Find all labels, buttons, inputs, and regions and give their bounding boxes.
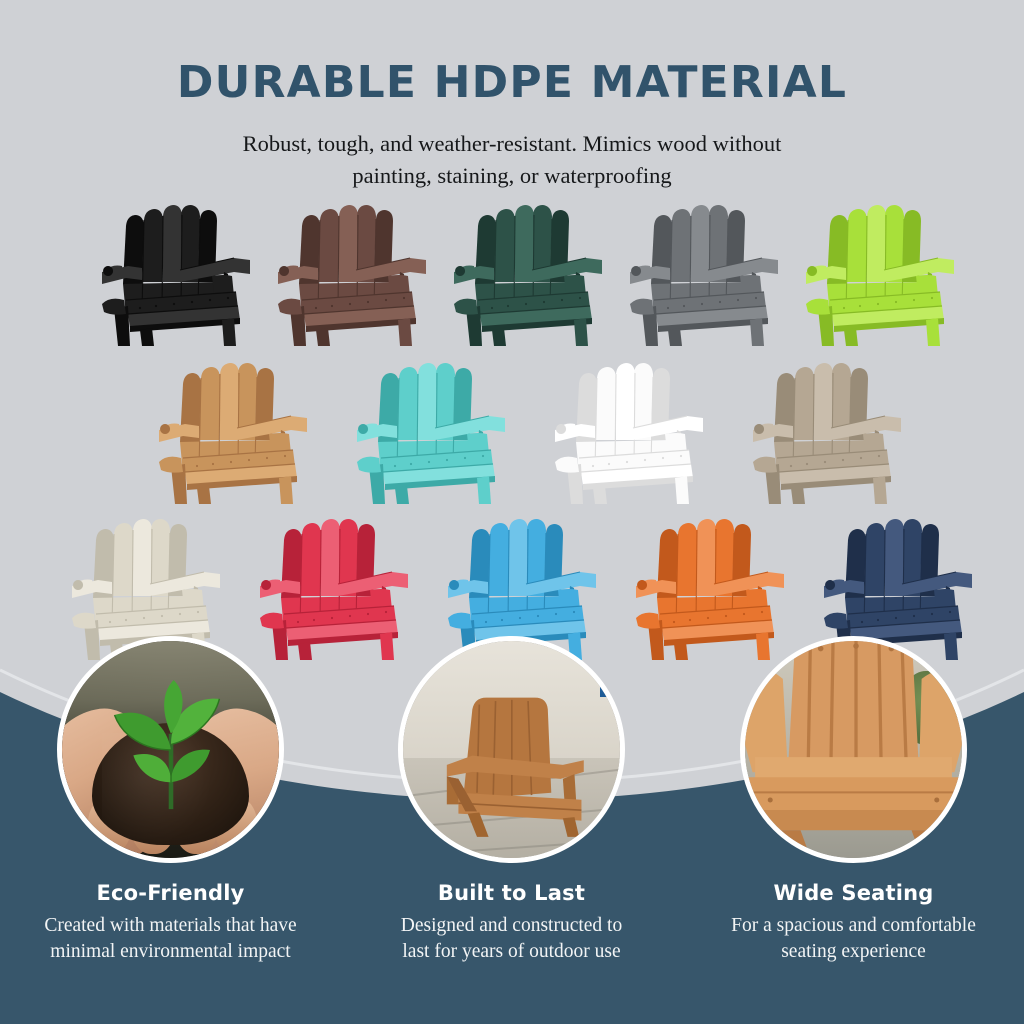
chair-rivet <box>680 455 682 457</box>
chair-rivet <box>125 619 127 621</box>
chair-part <box>926 318 940 346</box>
chair-rivet <box>843 307 845 309</box>
chair-part <box>488 523 509 596</box>
wide-seat-closeup-photo <box>745 641 962 858</box>
chair-rivet <box>209 299 211 301</box>
chair-rivet <box>859 305 861 307</box>
chair-rivet <box>761 611 763 613</box>
feature-built-to-last: Built to Last Designed and constructed t… <box>341 636 682 964</box>
chair-part <box>448 613 472 629</box>
chair-swatch-turquoise[interactable] <box>339 354 511 504</box>
chair-rivet <box>139 307 141 309</box>
chair-part <box>112 523 133 596</box>
feature-title: Wide Seating <box>683 863 1024 905</box>
chair-swatch-lime-green[interactable] <box>788 196 960 346</box>
feature-wide-seating: Wide Seating For a spacious and comforta… <box>683 636 1024 964</box>
chair-part <box>631 266 641 276</box>
chair-rivet <box>895 617 897 619</box>
chair-part <box>300 523 321 596</box>
feature-desc-line-2: minimal environmental impact <box>0 939 341 965</box>
feature-image-eco-friendly <box>57 636 284 863</box>
chair-rivet <box>824 461 826 463</box>
chair-part <box>397 367 418 440</box>
chair-part <box>73 580 83 590</box>
chair-part <box>163 205 182 282</box>
chair-rivet <box>913 615 915 617</box>
chair-rivet <box>592 465 594 467</box>
chair-part <box>72 613 96 629</box>
chair-part <box>824 613 848 629</box>
chair-part <box>630 299 654 315</box>
chair-rivet <box>737 299 739 301</box>
chair-brown <box>260 196 432 346</box>
header: DURABLE HDPE MATERIAL Robust, tough, and… <box>0 0 1024 192</box>
feature-image-built-to-last <box>398 636 625 863</box>
chair-rivet <box>109 621 111 623</box>
feature-desc-line-1: For a spacious and comfortable <box>683 913 1024 939</box>
chair-part <box>492 328 506 346</box>
chair-rivet <box>394 465 396 467</box>
chair-part <box>357 457 381 473</box>
chair-part <box>844 328 858 346</box>
chair-part <box>339 205 358 282</box>
chair-rivet <box>755 297 757 299</box>
chair-part <box>697 519 716 596</box>
chair-part <box>133 519 152 596</box>
chair-rivet <box>485 621 487 623</box>
feature-desc-line-2: seating experience <box>683 939 1024 965</box>
chair-rivet <box>895 301 897 303</box>
chair-part <box>807 266 817 276</box>
chair-part <box>593 486 607 504</box>
chair-part <box>515 205 534 282</box>
chair-part <box>509 519 528 596</box>
chair-part <box>395 486 409 504</box>
chair-rivet <box>877 619 879 621</box>
chair-rivet <box>331 617 333 619</box>
feature-section: Eco-Friendly Created with materials that… <box>0 636 1024 1024</box>
chair-part <box>220 363 239 440</box>
chair-part <box>668 328 682 346</box>
chair-rivet <box>315 307 317 309</box>
chair-rivet <box>491 307 493 309</box>
chair-part <box>260 613 284 629</box>
chair-part <box>199 367 220 440</box>
chair-rivet <box>719 301 721 303</box>
chair-rivet <box>155 305 157 307</box>
chair-rivet <box>913 299 915 301</box>
chair-swatch-white[interactable] <box>537 354 709 504</box>
page-title: DURABLE HDPE MATERIAL <box>0 0 1024 106</box>
chair-black <box>84 196 256 346</box>
chair-rivet <box>284 455 286 457</box>
chair-rivet <box>842 459 844 461</box>
feature-title: Eco-Friendly <box>0 863 341 905</box>
chair-rivet <box>878 455 880 457</box>
chair-part <box>793 367 814 440</box>
chair-dark-green <box>436 196 608 346</box>
chair-part <box>455 266 465 276</box>
chair-part <box>691 205 710 282</box>
chair-part <box>321 519 340 596</box>
chair-part <box>160 424 170 434</box>
chair-swatch-weathered-wood[interactable] <box>735 354 907 504</box>
chair-rivet <box>806 463 808 465</box>
chair-rivet <box>227 297 229 299</box>
chair-part <box>616 363 635 440</box>
feature-eco-friendly: Eco-Friendly Created with materials that… <box>0 636 341 964</box>
chair-swatch-dark-green[interactable] <box>436 196 608 346</box>
chair-part <box>418 363 437 440</box>
chair-rivet <box>367 613 369 615</box>
chair-part <box>595 367 616 440</box>
chair-part <box>358 424 368 434</box>
chair-part <box>867 205 886 282</box>
chair-rivet <box>179 613 181 615</box>
chair-part <box>556 424 566 434</box>
chair-rivet <box>861 621 863 623</box>
teak-chair-photo-silhouette <box>412 650 612 850</box>
chair-part <box>791 486 805 504</box>
chair-part <box>278 299 302 315</box>
chair-rivet <box>555 613 557 615</box>
chair-part <box>279 266 289 276</box>
chair-swatch-black[interactable] <box>84 196 256 346</box>
chair-rivet <box>573 611 575 613</box>
chair-gray <box>612 196 784 346</box>
chair-turquoise <box>339 354 511 504</box>
chair-rivet <box>608 463 610 465</box>
chair-rivet <box>561 299 563 301</box>
chair-part <box>676 523 697 596</box>
feature-description: For a spacious and comfortable seating e… <box>683 905 1024 964</box>
chair-rivet <box>349 303 351 305</box>
chair-rivet <box>410 463 412 465</box>
teak-chair-on-patio-photo <box>403 641 620 858</box>
chair-part <box>477 476 491 504</box>
chair-part <box>873 476 887 504</box>
chair-part <box>885 519 904 596</box>
chair-rivet <box>385 299 387 301</box>
chair-rivet <box>385 611 387 613</box>
chair-part <box>279 476 293 504</box>
feature-desc-line-1: Designed and constructed to <box>341 913 682 939</box>
chair-rivet <box>331 305 333 307</box>
chair-part <box>864 523 885 596</box>
chair-rivet <box>662 457 664 459</box>
chair-rivet <box>683 305 685 307</box>
chair-part <box>142 209 163 282</box>
subtitle-line-2: painting, staining, or waterproofing <box>0 160 1024 192</box>
chair-part <box>754 424 764 434</box>
chair-part <box>814 363 833 440</box>
chair-part <box>140 328 154 346</box>
chair-rivet <box>949 611 951 613</box>
chair-part <box>555 457 579 473</box>
chair-rivet <box>464 457 466 459</box>
chair-rivet <box>161 615 163 617</box>
feature-title: Built to Last <box>341 863 682 905</box>
chair-rivet <box>367 301 369 303</box>
chair-rivet <box>501 619 503 621</box>
feature-desc-line-1: Created with materials that have <box>0 913 341 939</box>
chair-rivet <box>446 459 448 461</box>
subtitle-line-1: Robust, tough, and weather-resistant. Mi… <box>0 128 1024 160</box>
chair-rivet <box>482 455 484 457</box>
chair-rivet <box>707 617 709 619</box>
chair-row-1 <box>0 196 1024 346</box>
chair-white <box>537 354 709 504</box>
chair-part <box>806 299 830 315</box>
chair-part <box>750 318 764 346</box>
chair-part <box>454 299 478 315</box>
chair-rivet <box>667 307 669 309</box>
feature-image-wide-seating <box>740 636 967 863</box>
chair-part <box>197 486 211 504</box>
chair-swatch-teak[interactable] <box>141 354 313 504</box>
hands-holding-seedling-photo <box>62 641 279 858</box>
chair-part <box>261 580 271 590</box>
chair-rivet <box>143 617 145 619</box>
chair-teak <box>141 354 313 504</box>
chair-rivet <box>525 303 527 305</box>
chair-rivet <box>644 459 646 461</box>
seedling-icon <box>103 680 238 815</box>
chair-rivet <box>349 615 351 617</box>
chair-part <box>675 476 689 504</box>
chair-part <box>316 328 330 346</box>
chair-rivet <box>626 461 628 463</box>
chair-swatch-brown[interactable] <box>260 196 432 346</box>
chair-rivet <box>197 611 199 613</box>
wide-seat-closeup-silhouette <box>745 641 962 858</box>
chair-row-2 <box>0 354 1024 504</box>
feature-desc-line-2: last for years of outdoor use <box>341 939 682 965</box>
chair-lime-green <box>788 196 960 346</box>
chair-rivet <box>297 621 299 623</box>
chair-rivet <box>743 613 745 615</box>
chair-part <box>670 209 691 282</box>
feature-description: Created with materials that have minimal… <box>0 905 341 964</box>
chair-part <box>846 209 867 282</box>
chair-part <box>318 209 339 282</box>
chair-rivet <box>266 457 268 459</box>
chair-part <box>494 209 515 282</box>
chair-part <box>636 613 660 629</box>
chair-part <box>825 580 835 590</box>
chair-rivet <box>173 303 175 305</box>
chair-part <box>398 318 412 346</box>
chair-rivet <box>212 463 214 465</box>
chair-part <box>159 457 183 473</box>
chair-rivet <box>313 619 315 621</box>
chair-rivet <box>725 615 727 617</box>
chair-rivet <box>428 461 430 463</box>
chair-rivet <box>931 297 933 299</box>
chair-color-grid <box>0 196 1024 660</box>
chair-rivet <box>790 465 792 467</box>
chair-rivet <box>230 461 232 463</box>
chair-rivet <box>196 465 198 467</box>
chair-rivet <box>248 459 250 461</box>
feature-description: Designed and constructed to last for yea… <box>341 905 682 964</box>
chair-rivet <box>689 619 691 621</box>
chair-rivet <box>543 301 545 303</box>
chair-part <box>637 580 647 590</box>
chair-part <box>449 580 459 590</box>
chair-weathered-wood <box>735 354 907 504</box>
chair-rivet <box>403 297 405 299</box>
chair-rivet <box>537 615 539 617</box>
page-subtitle: Robust, tough, and weather-resistant. Mi… <box>0 106 1024 192</box>
chair-part <box>102 299 126 315</box>
chair-rivet <box>860 457 862 459</box>
chair-rivet <box>579 297 581 299</box>
chair-rivet <box>931 613 933 615</box>
chair-part <box>753 457 777 473</box>
infographic-canvas: DURABLE HDPE MATERIAL Robust, tough, and… <box>0 0 1024 1024</box>
chair-rivet <box>519 617 521 619</box>
chair-rivet <box>877 303 879 305</box>
chair-part <box>222 318 236 346</box>
chair-swatch-gray[interactable] <box>612 196 784 346</box>
chair-part <box>574 318 588 346</box>
chair-rivet <box>507 305 509 307</box>
chair-rivet <box>673 621 675 623</box>
chair-part <box>103 266 113 276</box>
chair-rivet <box>191 301 193 303</box>
chair-rivet <box>701 303 703 305</box>
